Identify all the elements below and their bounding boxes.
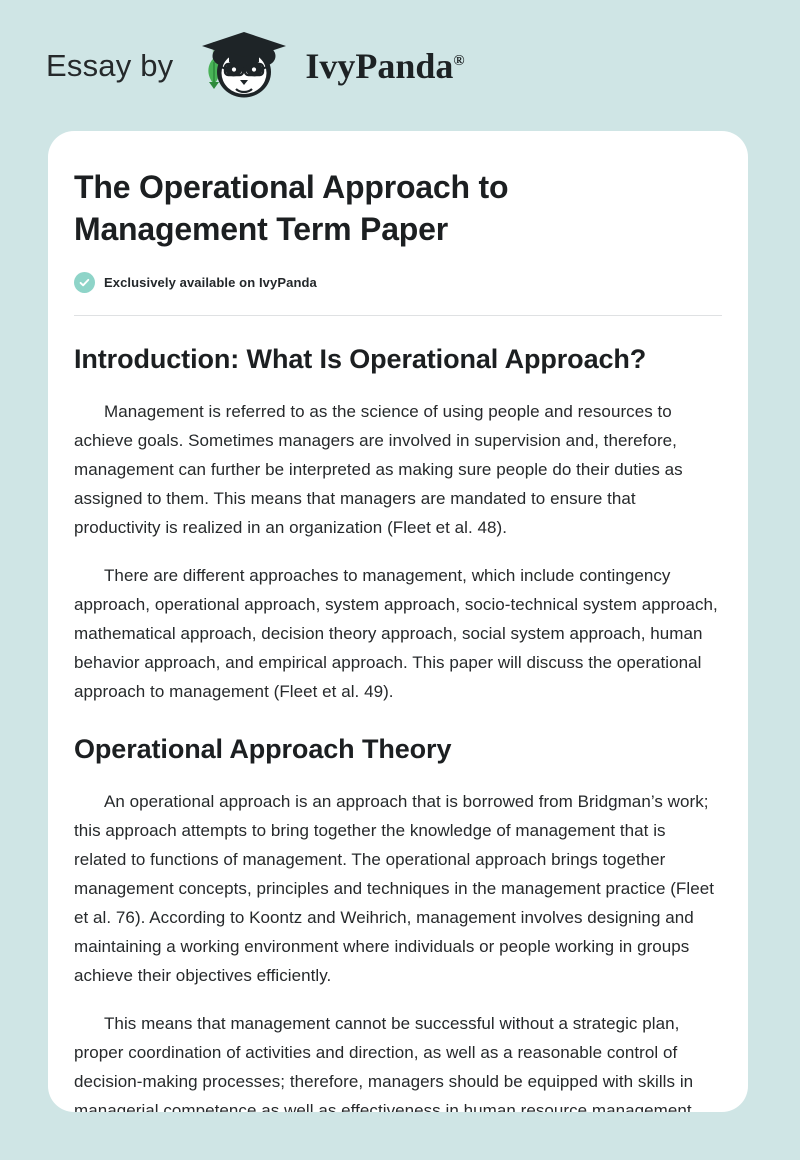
document-card: The Operational Approach to Management T… (48, 131, 748, 1112)
brand-lockup[interactable]: Essay by (46, 28, 465, 104)
exclusivity-label: Exclusively available on IvyPanda (104, 275, 317, 290)
section-heading-introduction: Introduction: What Is Operational Approa… (74, 343, 722, 377)
section-heading-operational-approach-theory: Operational Approach Theory (74, 733, 722, 767)
panda-graduate-logo-icon (187, 28, 299, 104)
title-divider (74, 315, 722, 316)
brand-wordmark: IvyPanda® (305, 48, 464, 84)
document-body: The Operational Approach to Management T… (74, 131, 722, 1112)
essay-by-label: Essay by (46, 50, 173, 81)
page-title: The Operational Approach to Management T… (74, 167, 634, 250)
brand-name-text: IvyPanda (305, 46, 453, 86)
section-paragraph: There are different approaches to manage… (74, 561, 722, 706)
section-paragraph: This means that management cannot be suc… (74, 1009, 722, 1112)
section-paragraph: Management is referred to as the science… (74, 397, 722, 542)
exclusivity-badge: Exclusively available on IvyPanda (74, 272, 722, 293)
site-header: Essay by (0, 0, 800, 131)
registered-trademark-icon: ® (453, 53, 464, 69)
check-circle-icon (74, 272, 95, 293)
section-paragraph: An operational approach is an approach t… (74, 787, 722, 990)
